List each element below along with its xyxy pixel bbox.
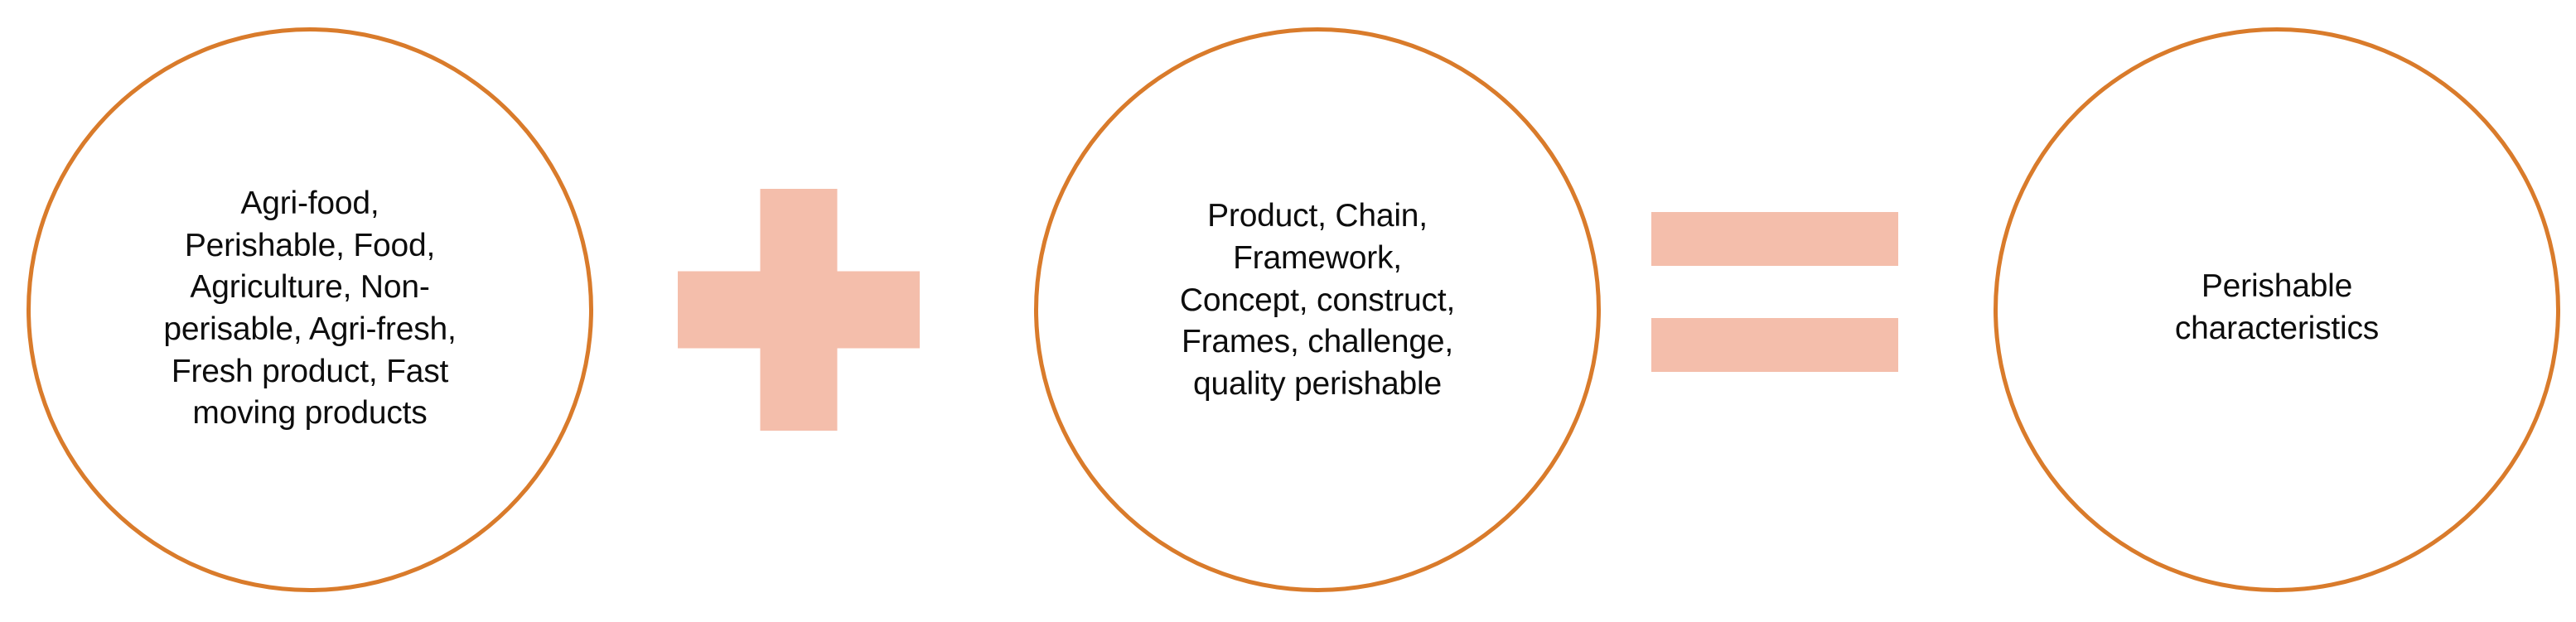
diagram-canvas: Agri-food, Perishable, Food, Agriculture…	[0, 0, 2576, 622]
concept-circle-constructs[interactable]: Product, Chain, Framework, Concept, cons…	[1034, 27, 1601, 592]
concept-circle-keywords[interactable]: Agri-food, Perishable, Food, Agriculture…	[27, 27, 593, 592]
plus-sign-horizontal-bar	[678, 272, 920, 349]
concept-circle-keywords-label: Agri-food, Perishable, Food, Agriculture…	[128, 183, 492, 435]
equals-sign-top-bar	[1651, 212, 1898, 266]
concept-circle-constructs-label: Product, Chain, Framework, Concept, cons…	[1119, 195, 1516, 405]
plus-sign-icon	[678, 189, 920, 431]
equals-sign-icon	[1651, 212, 1898, 372]
result-circle-label: Perishable characteristics	[2103, 266, 2451, 350]
result-circle-perishable-characteristics[interactable]: Perishable characteristics	[1994, 27, 2560, 592]
equals-sign-bottom-bar	[1651, 318, 1898, 372]
